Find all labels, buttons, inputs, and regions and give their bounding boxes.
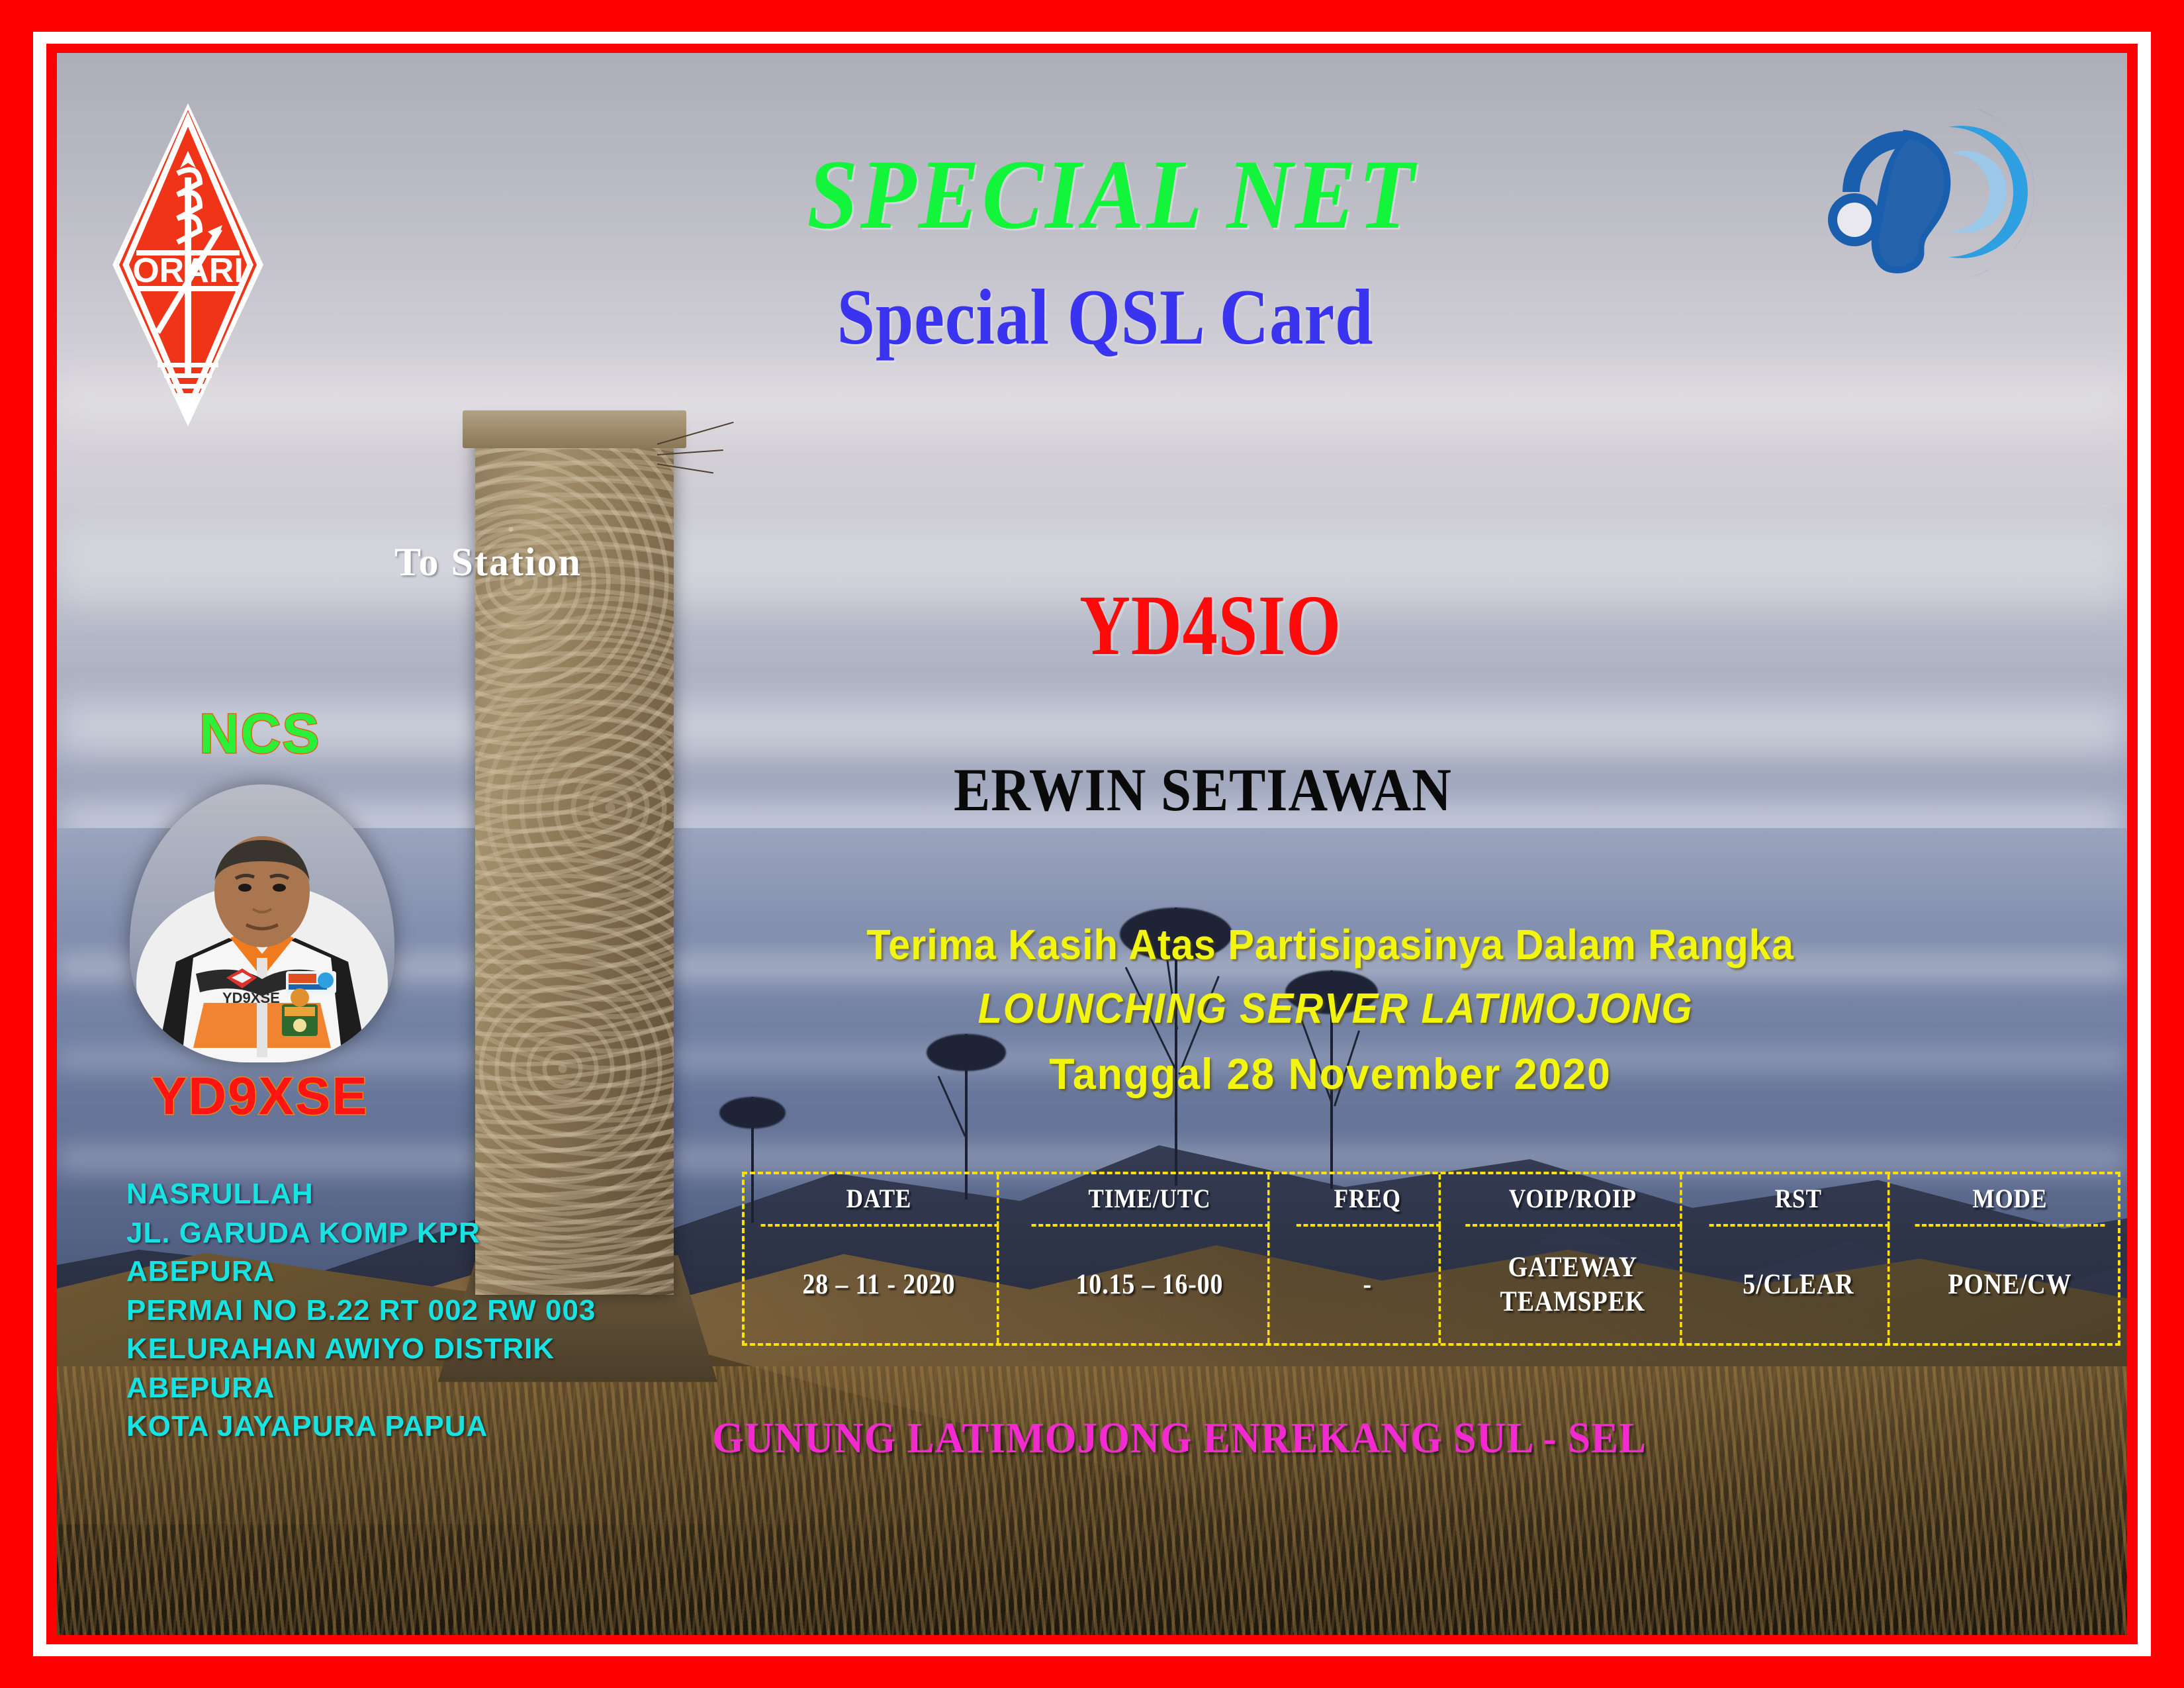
thanks-line-3: Tanggal 28 November 2020 <box>347 1049 2127 1099</box>
qso-log-table: DATE TIME/UTC FREQ VOIP/ROIP RST MODE 28… <box>742 1172 2120 1346</box>
address-line: KOTA JAYAPURA PAPUA <box>126 1407 596 1446</box>
page-subtitle: Special QSL Card <box>215 271 1995 363</box>
thanks-block: Terima Kasih Atas Partisipasinya Dalam R… <box>57 920 2127 1099</box>
thanks-line-1: Terima Kasih Atas Partisipasinya Dalam R… <box>367 920 2127 969</box>
table-header-rst: RST <box>1709 1174 1890 1227</box>
page-title: SPECIAL NET <box>159 138 2064 252</box>
card-frame-white: ORARI <box>33 32 2151 1656</box>
table-header-time: TIME/UTC <box>1032 1174 1270 1227</box>
ncs-address-block: NASRULLAH JL. GARUDA KOMP KPR ABEPURA PE… <box>126 1175 596 1446</box>
address-line: PERMAI NO B.22 RT 002 RW 003 <box>126 1291 596 1331</box>
table-cell-mode: PONE/CW <box>1915 1227 2105 1343</box>
address-line: ABEPURA <box>126 1369 596 1408</box>
table-cell-date: 28 – 11 - 2020 <box>761 1227 999 1343</box>
address-line: JL. GARUDA KOMP KPR <box>126 1214 596 1253</box>
card-content: ORARI <box>57 53 2127 1635</box>
table-cell-rst: 5/CLEAR <box>1709 1227 1890 1343</box>
table-cell-freq: - <box>1297 1227 1441 1343</box>
table-cell-voip: GATEWAY TEAMSPEK <box>1465 1227 1682 1343</box>
table-header-freq: FREQ <box>1297 1174 1441 1227</box>
table-cell-time: 10.15 – 16-00 <box>1032 1227 1270 1343</box>
station-callsign: YD4SIO <box>1079 576 1342 675</box>
qsl-card: ORARI <box>0 0 2184 1688</box>
ncs-label: NCS <box>199 702 320 766</box>
operator-name: ERWIN SETIAWAN <box>954 755 1452 825</box>
website-address: Address : amatir.latimojong.com <box>1334 1634 1899 1635</box>
to-station-label: To Station <box>394 539 582 585</box>
table-header-date: DATE <box>761 1174 999 1227</box>
address-line: KELURAHAN AWIYO DISTRIK <box>126 1330 596 1369</box>
card-frame-red-inner: ORARI <box>46 44 2138 1644</box>
thanks-line-2: LOUNCHING SERVER LATIMOJONG <box>373 984 2127 1033</box>
location-caption: GUNUNG LATIMOJONG ENREKANG SUL - SEL <box>712 1413 1647 1464</box>
address-line: ABEPURA <box>126 1252 596 1291</box>
table-header-voip: VOIP/ROIP <box>1465 1174 1682 1227</box>
address-line: NASRULLAH <box>126 1175 596 1214</box>
background-photograph: ORARI <box>57 53 2127 1635</box>
table-header-mode: MODE <box>1915 1174 2105 1227</box>
